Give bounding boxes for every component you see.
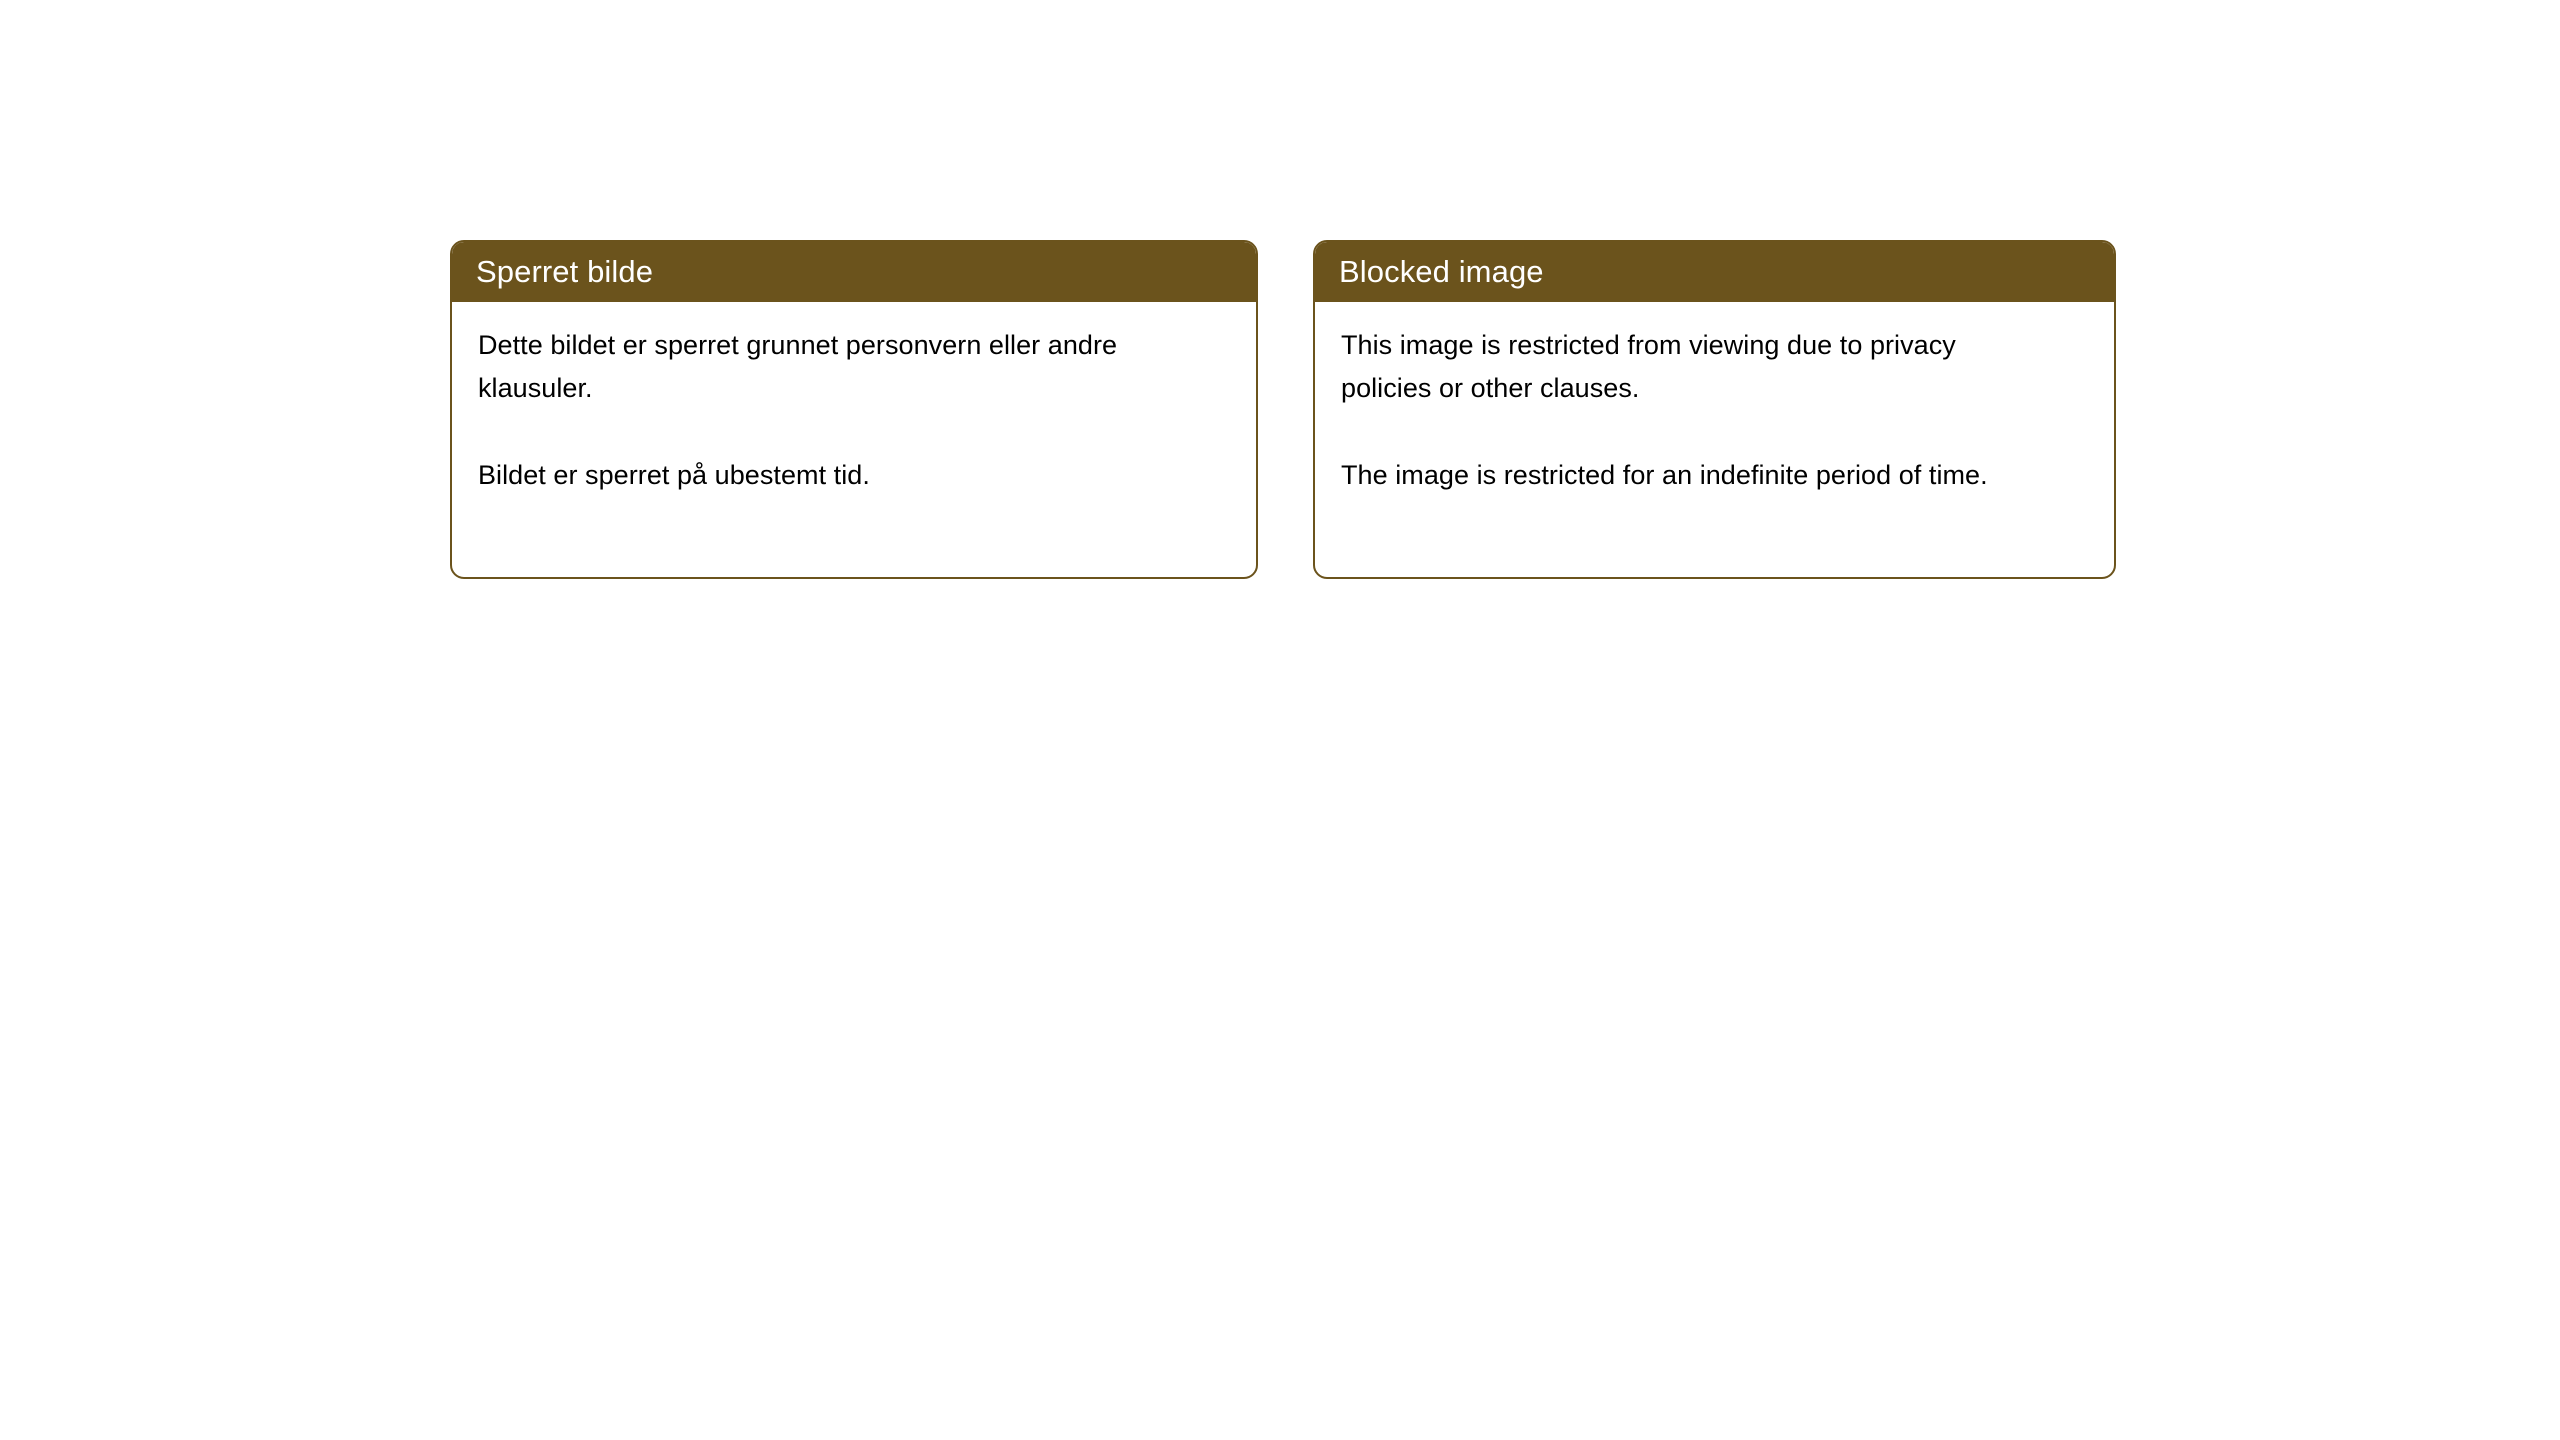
card-header-english: Blocked image xyxy=(1315,242,2114,302)
card-body-norwegian: Dette bildet er sperret grunnet personve… xyxy=(452,302,1256,497)
blocked-image-notice-card-norwegian: Sperret bilde Dette bildet er sperret gr… xyxy=(450,240,1258,579)
card-title-english: Blocked image xyxy=(1339,255,1544,289)
page-canvas: Sperret bilde Dette bildet er sperret gr… xyxy=(0,0,2560,1440)
card-paragraph-duration-english: The image is restricted for an indefinit… xyxy=(1341,454,2031,497)
card-header-norwegian: Sperret bilde xyxy=(452,242,1256,302)
blocked-image-notice-card-english: Blocked image This image is restricted f… xyxy=(1313,240,2116,579)
card-paragraph-reason-english: This image is restricted from viewing du… xyxy=(1341,324,2031,410)
card-paragraph-reason-norwegian: Dette bildet er sperret grunnet personve… xyxy=(478,324,1178,410)
card-title-norwegian: Sperret bilde xyxy=(476,255,653,289)
card-body-english: This image is restricted from viewing du… xyxy=(1315,302,2114,497)
card-paragraph-duration-norwegian: Bildet er sperret på ubestemt tid. xyxy=(478,454,1178,497)
